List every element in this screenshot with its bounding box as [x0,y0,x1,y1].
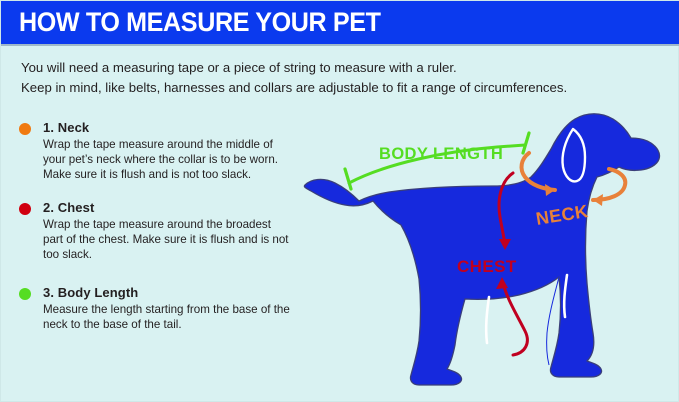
infographic-page: HOW TO MEASURE YOUR PET You will need a … [0,0,679,402]
body-length-end-cap-left [345,169,351,189]
step-body-neck-line-2: your pet’s neck where the collar is to b… [43,152,297,167]
step-body-chest-line-2: part of the chest. Make sure it is flush… [43,232,297,247]
step-body-neck: Wrap the tape measure around the middle … [43,137,297,183]
step-body-neck-line-3: Make sure it is flush and is not too sla… [43,167,297,182]
intro-line-2: Keep in mind, like belts, harnesses and … [21,78,666,98]
step-body-chest-line-1: Wrap the tape measure around the broades… [43,217,297,232]
header-bar: HOW TO MEASURE YOUR PET [1,1,679,44]
measurement-steps-list: 1. Neck Wrap the tape measure around the… [17,119,297,347]
bullet-icon-chest [19,203,31,215]
step-body-body-length-line-2: neck to the base of the tail. [43,317,297,332]
step-body-body-length-line-1: Measure the length starting from the bas… [43,302,297,317]
body-length-label: BODY LENGTH [379,145,503,163]
neck-arrow-right-head [593,194,603,206]
step-title-body-length: 3. Body Length [43,284,297,301]
header-divider [1,44,679,46]
bullet-icon-neck [19,123,31,135]
step-body-chest: Wrap the tape measure around the broades… [43,217,297,263]
chest-label: CHEST [457,257,517,276]
dog-measurement-diagram: BODY LENGTH NECK CHEST [297,107,679,402]
body-length-measurement: BODY LENGTH [345,133,529,189]
intro-line-1: You will need a measuring tape or a piec… [21,58,666,78]
step-title-chest: 2. Chest [43,199,297,216]
list-item-chest: 2. Chest Wrap the tape measure around th… [17,199,297,263]
list-item-body-length: 3. Body Length Measure the length starti… [17,284,297,332]
page-title: HOW TO MEASURE YOUR PET [19,7,381,38]
bullet-icon-body-length [19,288,31,300]
step-body-chest-line-3: too slack. [43,247,297,262]
step-title-neck: 1. Neck [43,119,297,136]
body-length-end-cap-right [523,133,529,153]
step-body-neck-line-1: Wrap the tape measure around the middle … [43,137,297,152]
step-body-body-length: Measure the length starting from the bas… [43,302,297,332]
list-item-neck: 1. Neck Wrap the tape measure around the… [17,119,297,183]
intro-text: You will need a measuring tape or a piec… [21,58,666,98]
